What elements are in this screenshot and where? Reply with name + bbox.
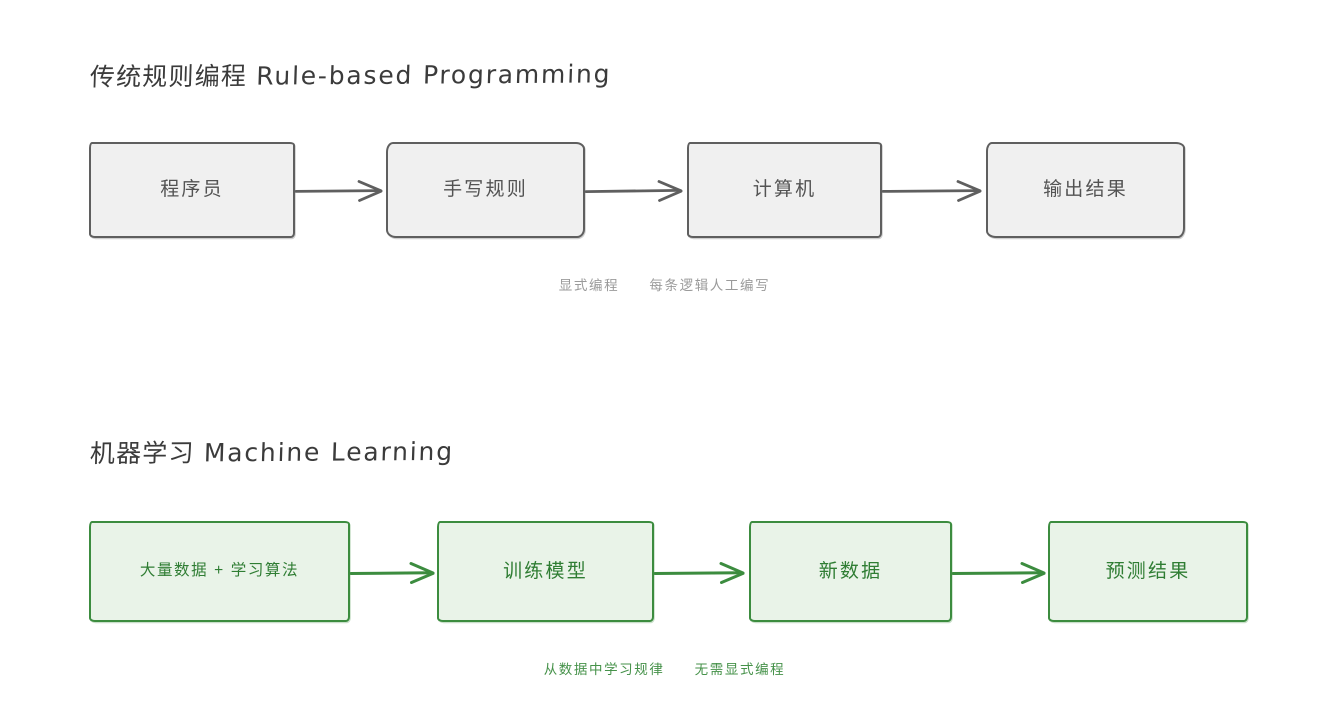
section-title-rule-based: 传统规则编程 Rule-based Programming	[89, 54, 612, 93]
section-title-cjk-machine-learning: 机器学习	[89, 438, 195, 468]
caption-machine-learning: 从数据中学习规律 无需显式编程	[0, 658, 1329, 678]
node-data-and-algorithm[interactable]: 大量数据 + 学习算法	[89, 521, 350, 622]
node-computer[interactable]: 计算机	[687, 142, 882, 238]
node-label-programmer: 程序员	[160, 177, 224, 203]
node-label-output-result: 输出结果	[1043, 177, 1128, 203]
diagram-canvas: 传统规则编程 Rule-based Programming 程序员 手写规则 计…	[0, 0, 1329, 725]
arrow-programmer-to-handwritten-rules	[295, 180, 387, 202]
node-label-trained-model: 训练模型	[503, 559, 588, 585]
section-title-cjk-rule-based: 传统规则编程	[89, 62, 247, 92]
node-programmer[interactable]: 程序员	[89, 142, 295, 238]
section-title-latin-rule-based: Rule-based Programming	[256, 59, 612, 90]
caption-rule-based: 显式编程 每条逻辑人工编写	[0, 274, 1329, 294]
arrow-computer-to-output-result	[882, 180, 986, 202]
node-new-data[interactable]: 新数据	[749, 521, 952, 622]
node-trained-model[interactable]: 训练模型	[437, 521, 654, 622]
arrow-trained-model-to-new-data	[654, 562, 749, 584]
node-output-result[interactable]: 输出结果	[986, 142, 1185, 238]
section-title-machine-learning: 机器学习 Machine Learning	[89, 432, 454, 470]
node-label-computer: 计算机	[753, 177, 817, 203]
node-predicted-result[interactable]: 预测结果	[1048, 521, 1248, 622]
arrow-handwritten-rules-to-computer	[585, 180, 687, 202]
node-label-new-data: 新数据	[819, 559, 883, 585]
node-label-data-and-algorithm: 大量数据 + 学习算法	[140, 561, 299, 582]
section-title-latin-machine-learning: Machine Learning	[203, 437, 454, 468]
arrow-new-data-to-predicted-result	[952, 562, 1050, 584]
arrow-data-to-trained-model	[350, 562, 439, 584]
flow-row-machine-learning: 大量数据 + 学习算法 训练模型 新数据	[0, 519, 1329, 625]
node-handwritten-rules[interactable]: 手写规则	[386, 142, 585, 238]
node-label-handwritten-rules: 手写规则	[443, 177, 528, 203]
node-label-predicted-result: 预测结果	[1106, 559, 1191, 585]
flow-row-rule-based: 程序员 手写规则 计算机	[0, 140, 1329, 240]
